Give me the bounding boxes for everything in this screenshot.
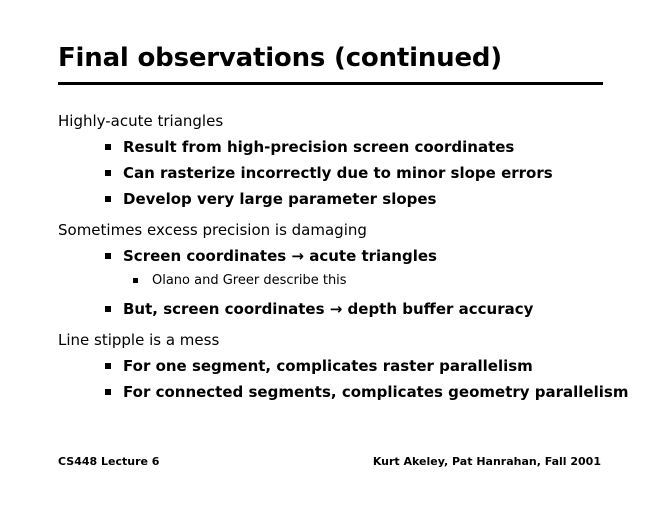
slide-body: Highly-acute trianglesResult from high-p…	[0, 108, 660, 405]
square-bullet-icon	[105, 363, 111, 369]
bullet-item-text: Olano and Greer describe this	[152, 273, 347, 288]
bullet-item-text: Result from high-precision screen coordi…	[123, 138, 514, 156]
square-bullet-icon	[105, 389, 111, 395]
title-divider	[58, 82, 603, 85]
bullet-item-text: For connected segments, complicates geom…	[123, 383, 628, 401]
bullet-item-level-1: Line stipple is a mess	[58, 327, 660, 353]
bullet-item-text: Line stipple is a mess	[58, 331, 219, 349]
bullet-item-level-1: Highly-acute triangles	[58, 108, 660, 134]
bullet-item-level-2: For connected segments, complicates geom…	[105, 379, 660, 405]
slide: Final observations (continued) Highly-ac…	[0, 0, 660, 510]
bullet-item-level-1: Sometimes excess precision is damaging	[58, 217, 660, 243]
bullet-item-level-2: Develop very large parameter slopes	[105, 186, 660, 212]
footer-authors-label: Kurt Akeley, Pat Hanrahan, Fall 2001	[373, 455, 601, 468]
bullet-item-text: Highly-acute triangles	[58, 112, 223, 130]
bullet-item-level-2: But, screen coordinates → depth buffer a…	[105, 296, 660, 322]
bullet-item-level-2: For one segment, complicates raster para…	[105, 353, 660, 379]
bullet-item-level-3: Olano and Greer describe this	[133, 269, 660, 293]
bullet-item-text: Sometimes excess precision is damaging	[58, 221, 367, 239]
bullet-item-level-2: Can rasterize incorrectly due to minor s…	[105, 160, 660, 186]
bullet-item-text: But, screen coordinates → depth buffer a…	[123, 300, 533, 318]
square-bullet-icon	[105, 306, 111, 312]
bullet-item-text: Develop very large parameter slopes	[123, 190, 436, 208]
square-bullet-icon	[105, 253, 111, 259]
bullet-item-text: Screen coordinates → acute triangles	[123, 247, 437, 265]
bullet-item-text: Can rasterize incorrectly due to minor s…	[123, 164, 553, 182]
square-bullet-icon	[105, 144, 111, 150]
bullet-item-level-2: Result from high-precision screen coordi…	[105, 134, 660, 160]
square-bullet-icon	[105, 196, 111, 202]
bullet-item-text: For one segment, complicates raster para…	[123, 357, 533, 375]
square-bullet-icon	[133, 278, 138, 283]
bullet-item-level-2: Screen coordinates → acute triangles	[105, 243, 660, 269]
square-bullet-icon	[105, 170, 111, 176]
page-title: Final observations (continued)	[58, 43, 604, 73]
footer-lecture-label: CS448 Lecture 6	[58, 455, 159, 468]
